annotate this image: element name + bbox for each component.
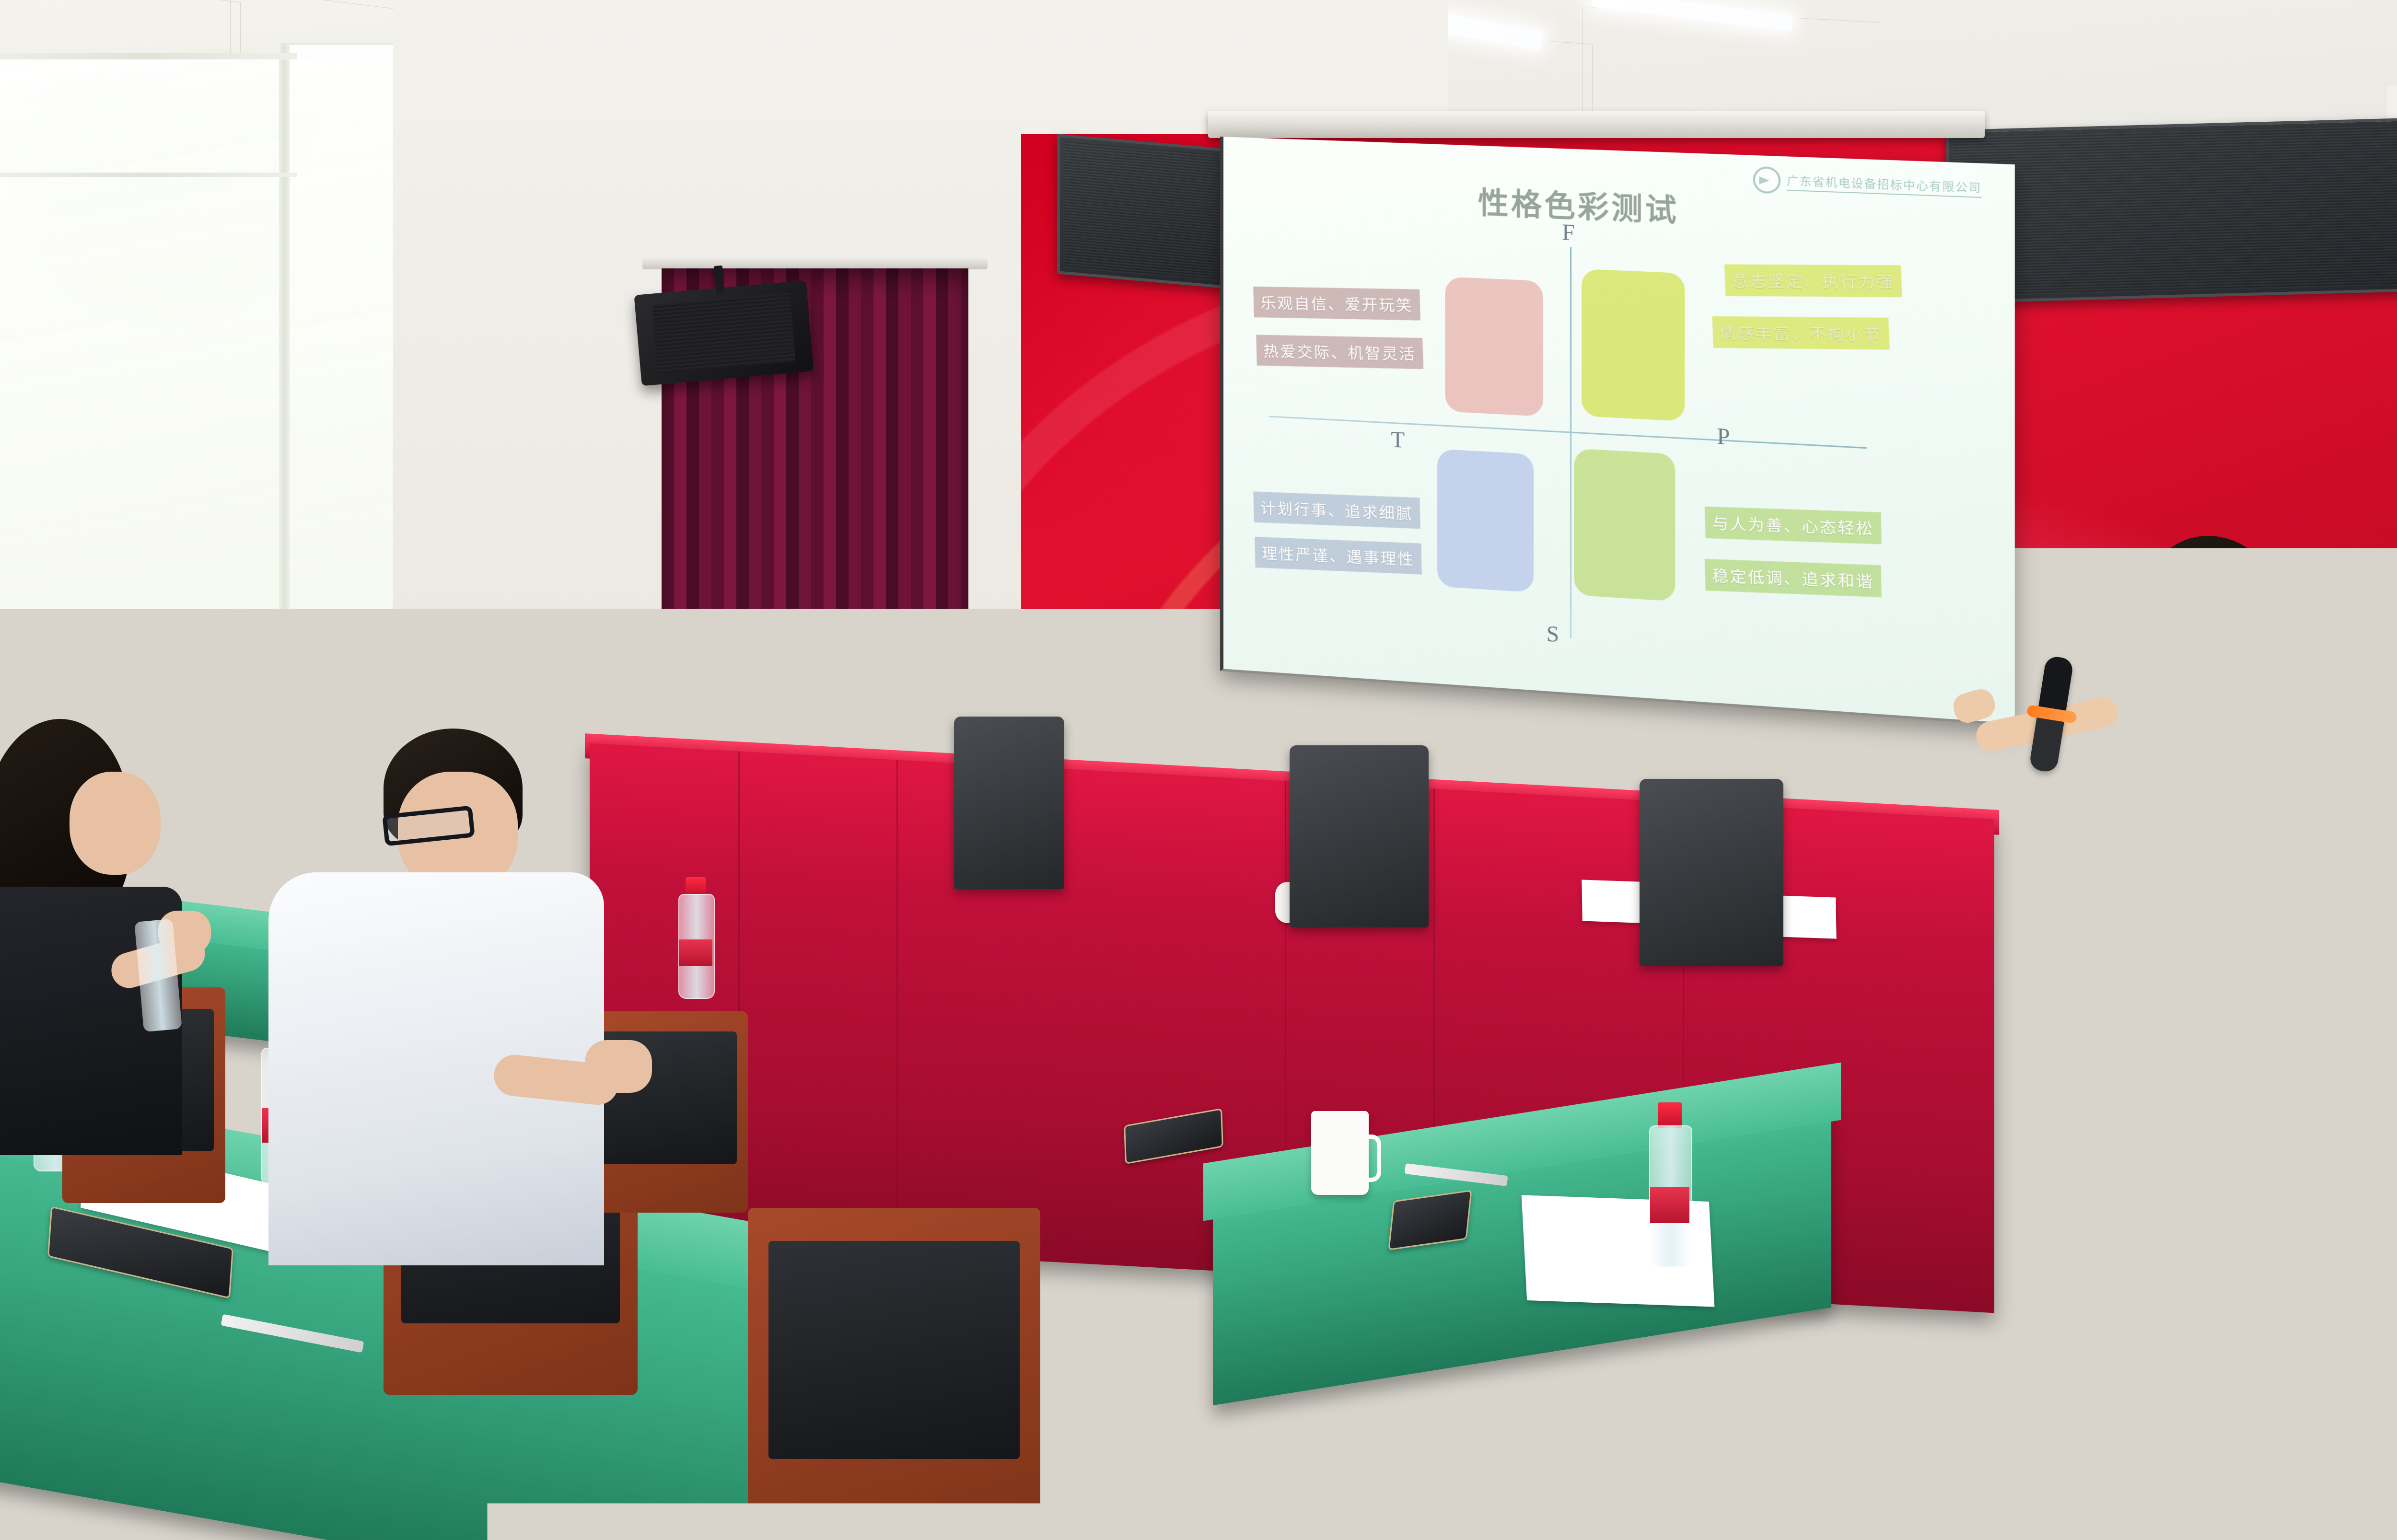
tag-red-1: 乐观自信、爱开玩笑 [1253,287,1420,321]
slide-logo-text: 广东省机电设备招标中心有限公司 [1787,171,1981,197]
projection-screen: 广东省机电设备招标中心有限公司 性格色彩测试 F T P S 乐观自信、爱开玩笑… [1220,137,2015,726]
screen-housing [1208,111,1985,138]
attendee-lace-top [906,911,1385,1540]
quadrant-blue [1437,449,1534,593]
tag-green-2: 稳定低调、追求和谐 [1704,559,1881,597]
ceiling-speaker [634,280,814,386]
monitor-swatch-pale [274,696,295,712]
chair-seat [2390,1107,2397,1179]
tag-red-2: 热爱交际、机智灵活 [1256,335,1423,370]
monitor-swatch-pink [227,696,248,714]
desk-microphone [460,646,518,723]
tag-yellow-1: 意志坚定、执行力强 [1724,265,1902,298]
tag-blue-1: 计划行事、追求细腻 [1253,491,1420,529]
quadrant-red [1445,277,1543,417]
conference-room-photo: 广东省机电设备招标中心有限公司 性格色彩测试 F T P S 乐观自信、爱开玩笑… [0,0,2397,1540]
horizontal-axis [1269,416,1867,449]
slide-logo: 广东省机电设备招标中心有限公司 [1753,166,1982,202]
wall-display-panel [1057,134,1231,289]
company-logo-icon [1753,166,1781,194]
tag-yellow-2: 情感丰富、不拘小节 [1712,316,1890,350]
head-table-chair [1290,745,1429,927]
monitor-swatch-green [253,722,271,741]
slide-title: 性格色彩测试 [1478,178,1679,230]
attendee-white-shirt [268,729,642,1256]
head-table-chair [1640,779,1783,966]
curtain-rail [642,257,988,269]
vertical-axis [1570,247,1571,638]
slide-content: 广东省机电设备招标中心有限公司 性格色彩测试 F T P S 乐观自信、爱开玩笑… [1223,137,2015,723]
water-bottle [1649,1102,1690,1265]
tag-blue-2: 理性严谨、遇事理性 [1255,537,1422,575]
presenter [2066,484,2373,1376]
axis-label-t: T [1391,427,1405,453]
tag-green-1: 与人为善、心态轻松 [1704,507,1881,544]
quadrant-yellow [1582,269,1685,421]
axis-label-f: F [1562,219,1575,245]
attendee-dark-top [0,719,235,1150]
monitor-line-pink [186,705,222,710]
axis-label-p: P [1717,423,1730,450]
axis-label-s: S [1547,621,1559,648]
quadrant-green [1574,448,1676,602]
desk-microphone [173,637,230,700]
window-pane [0,53,295,621]
monitor-swatch-yellow [253,696,271,714]
